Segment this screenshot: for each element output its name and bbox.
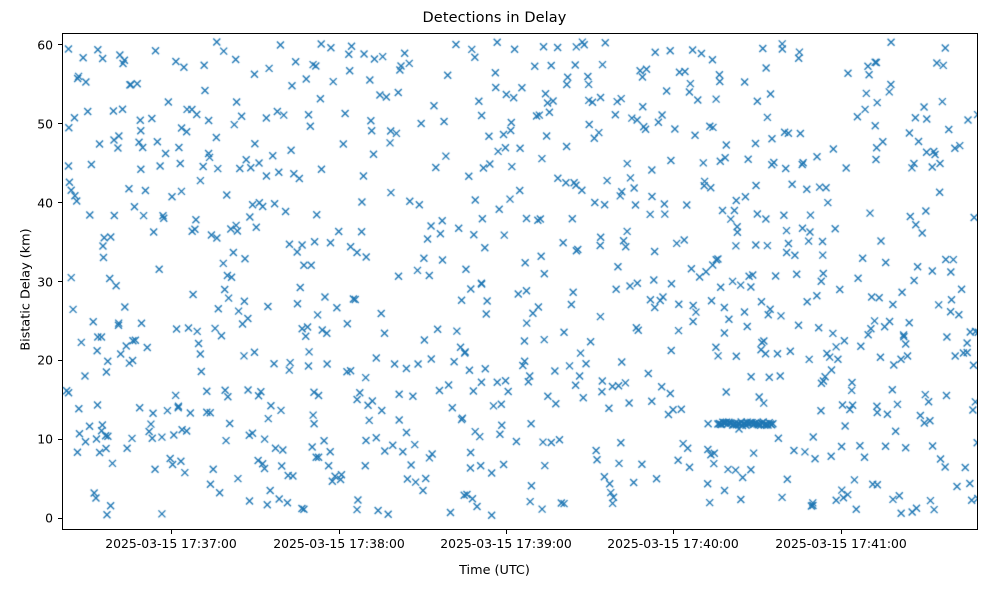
x-tick-mark — [171, 530, 172, 534]
scatter-points-canvas — [63, 34, 978, 530]
x-axis-label: Time (UTC) — [0, 563, 989, 578]
x-tick-mark — [673, 530, 674, 534]
x-tick-label: 2025-03-15 17:39:00 — [440, 536, 572, 551]
x-tick-mark — [339, 530, 340, 534]
x-tick-mark — [506, 530, 507, 534]
x-tick-label: 2025-03-15 17:40:00 — [607, 536, 739, 551]
y-tick-label: 60 — [0, 37, 53, 52]
x-tick-mark — [841, 530, 842, 534]
y-tick-label: 0 — [0, 511, 53, 526]
x-tick-label: 2025-03-15 17:37:00 — [105, 536, 237, 551]
plot-area — [62, 33, 978, 530]
matplotlib-figure: Detections in Delay 0102030405060 2025-0… — [0, 0, 989, 590]
chart-title: Detections in Delay — [0, 10, 989, 26]
y-axis-label: Bistatic Delay (km) — [19, 160, 34, 420]
y-tick-label: 10 — [0, 432, 53, 447]
x-tick-label: 2025-03-15 17:38:00 — [273, 536, 405, 551]
y-tick-label: 50 — [0, 116, 53, 131]
x-tick-label: 2025-03-15 17:41:00 — [775, 536, 907, 551]
